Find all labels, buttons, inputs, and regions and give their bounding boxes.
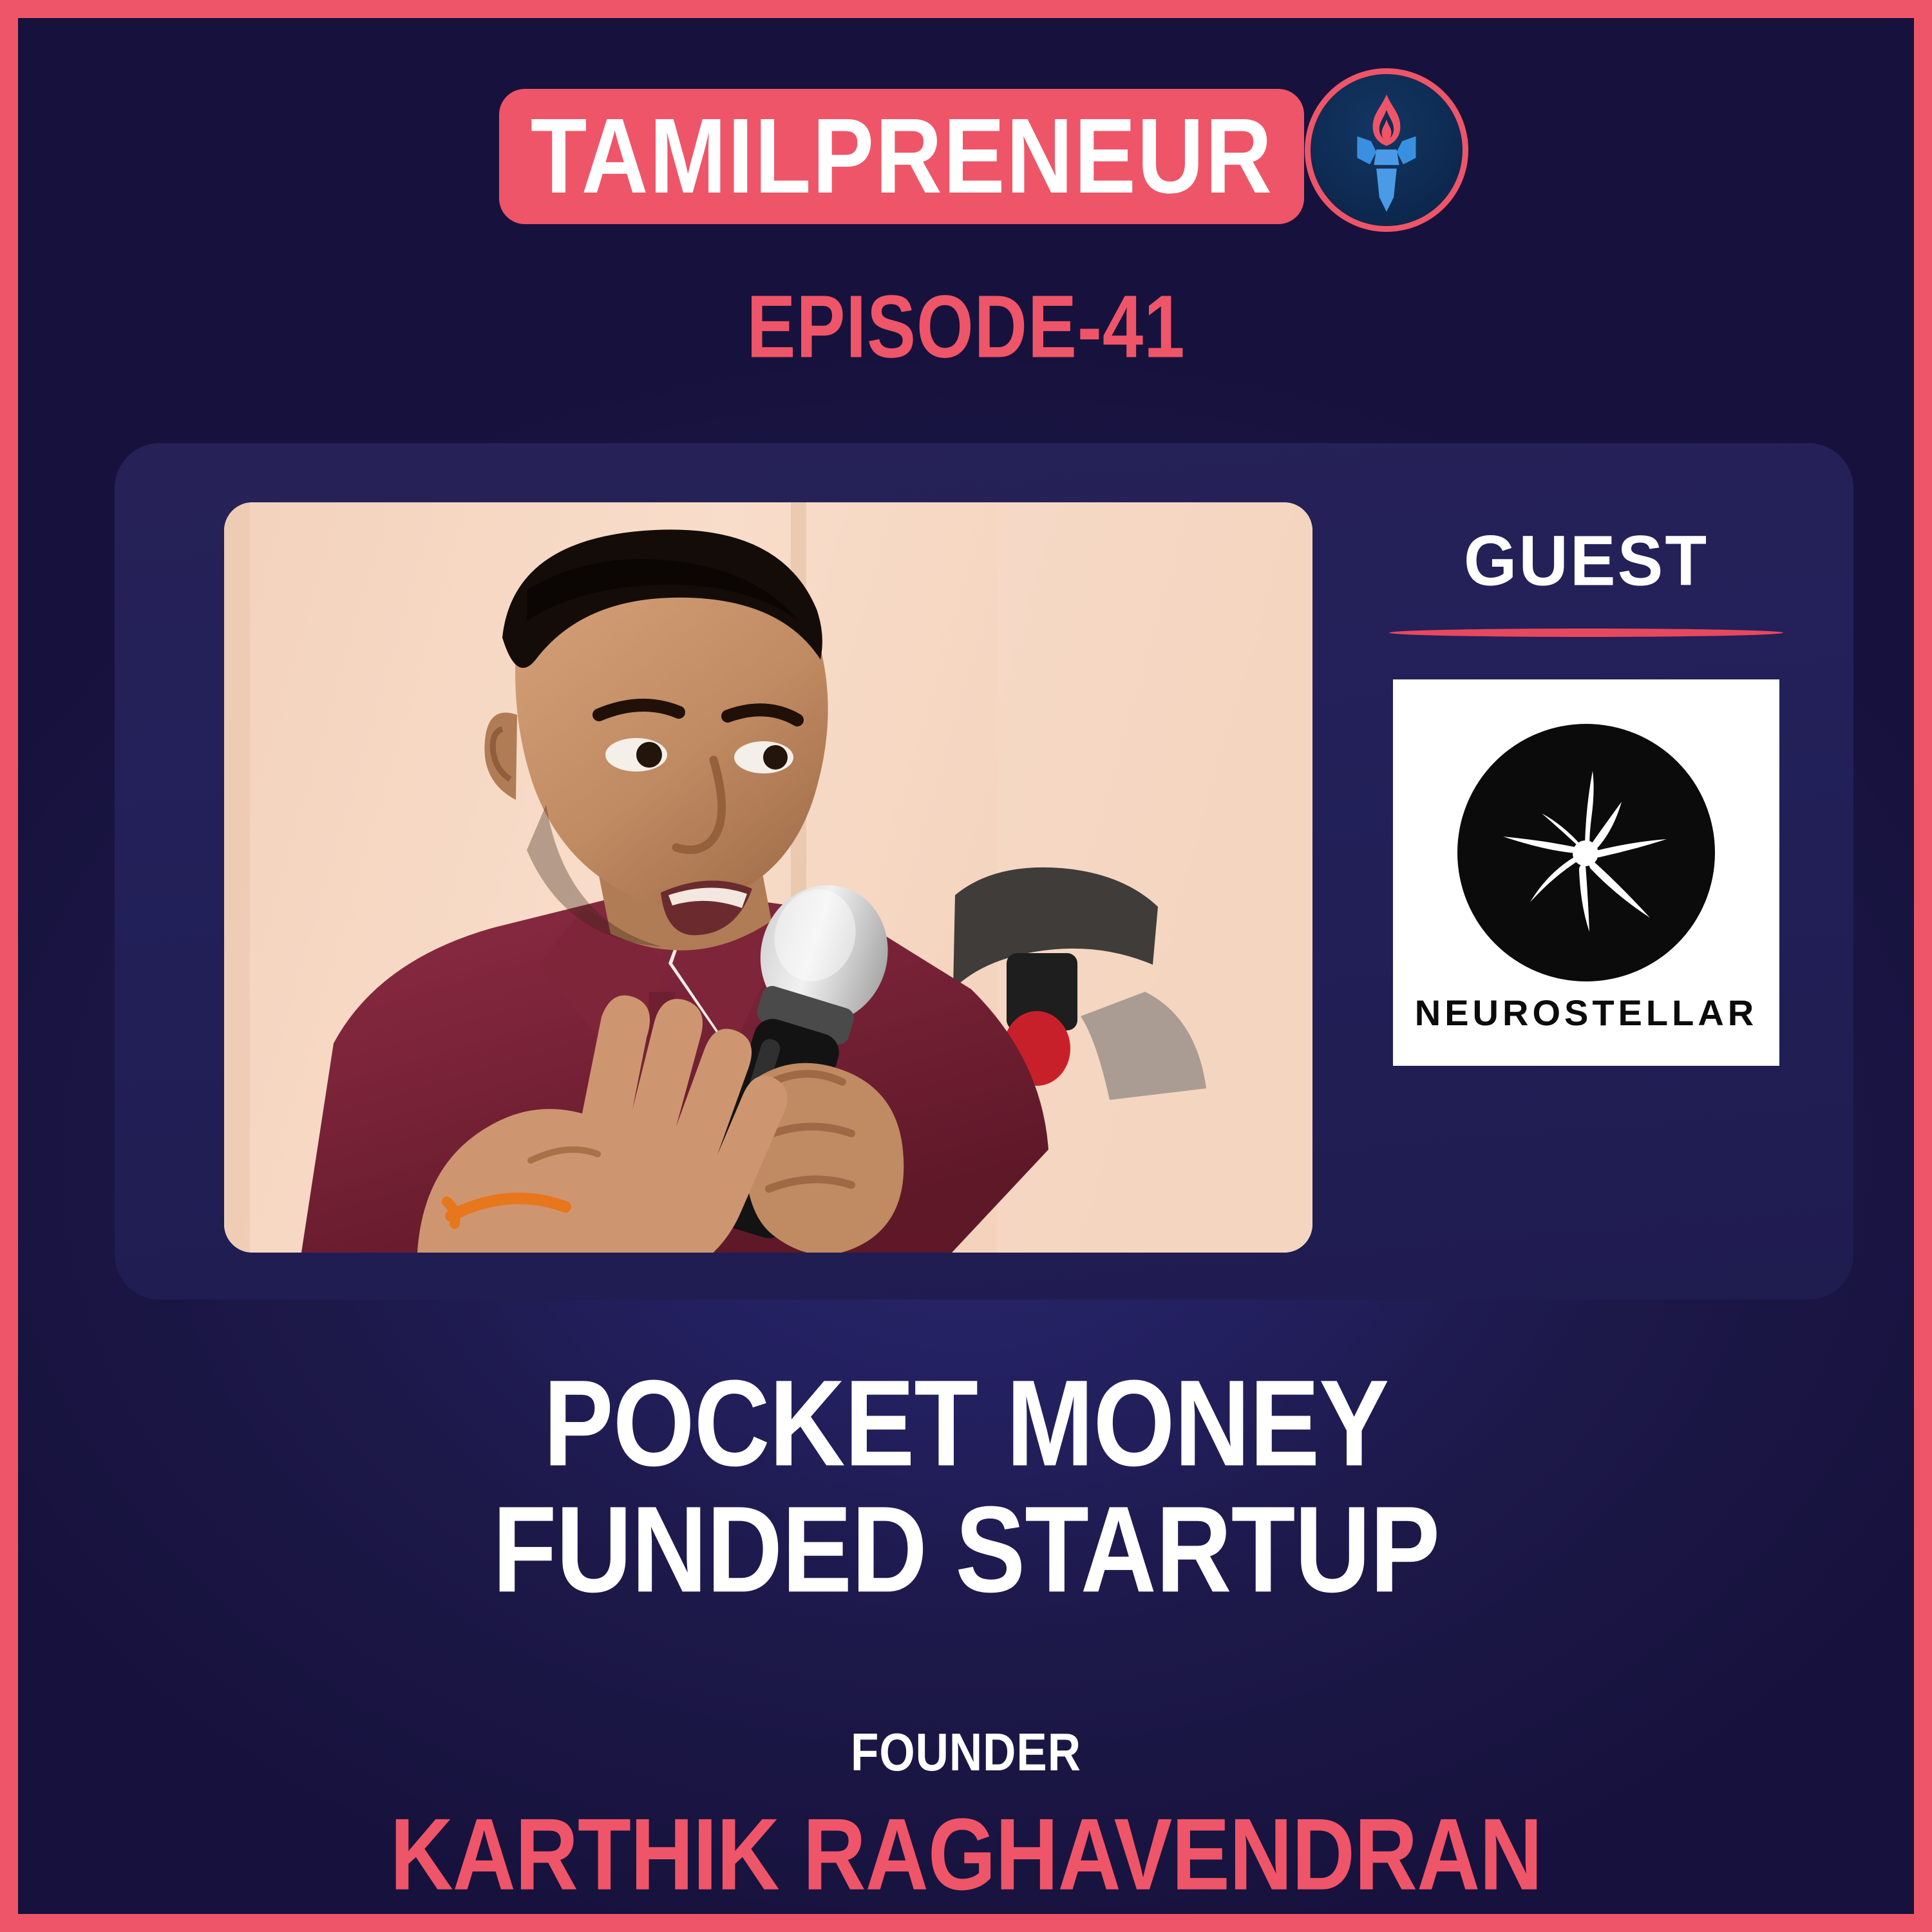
founder-name: KARTHIK RAGHAVENDRAN (46, 1795, 1886, 1913)
guest-company-logo: NEUROSTELLAR (1393, 679, 1779, 1066)
guest-divider (1389, 629, 1783, 637)
episode-number: EPISODE-41 (66, 276, 1867, 378)
founder-role: FOUNDER (56, 1721, 1876, 1783)
guest-panel: GUEST (1358, 527, 1815, 1235)
guest-card: GUEST (115, 443, 1853, 1300)
title-line-1: POCKET MONEY (56, 1361, 1876, 1487)
guest-photo (224, 502, 1312, 1253)
brand-header: TAMILPRENEUR (18, 82, 1914, 231)
guest-label: GUEST (1358, 526, 1815, 596)
guest-company-name: NEUROSTELLAR (1415, 995, 1757, 1031)
brand-title: TAMILPRENEUR (530, 103, 1273, 210)
poster-canvas: TAMILPRENEUR EPISODE-41 (18, 18, 1914, 1914)
episode-poster: TAMILPRENEUR EPISODE-41 (0, 0, 1932, 1932)
title-line-2: FUNDED STARTUP (56, 1487, 1876, 1613)
brand-badge: TAMILPRENEUR (499, 89, 1304, 224)
episode-title: POCKET MONEY FUNDED STARTUP (56, 1361, 1876, 1613)
neuron-star-icon (1448, 714, 1725, 991)
torch-tie-icon (1305, 68, 1468, 232)
